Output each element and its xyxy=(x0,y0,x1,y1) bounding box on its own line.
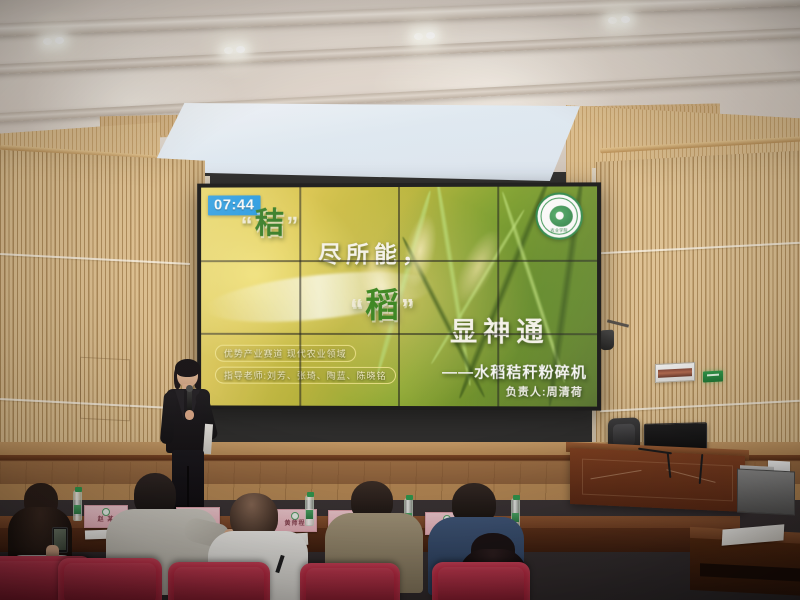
conference-hall-photo: 07:44 “秸” 尽所能， “稻” 显神通 优势产业赛道 现代农业领域 指导老… xyxy=(0,0,800,600)
bottle-cap xyxy=(307,492,314,497)
presenter-lapel xyxy=(175,390,184,420)
wall-speaker-icon xyxy=(600,330,614,351)
ceiling-light-panel xyxy=(150,103,580,181)
slide-track-tag: 优势产业赛道 现代农业领域 xyxy=(215,345,356,362)
video-wall-bezel xyxy=(201,260,597,262)
wall-access-door[interactable] xyxy=(80,357,130,422)
ceiling-spotlight-icon xyxy=(426,32,435,39)
video-wall-bezel xyxy=(201,333,597,335)
ceiling-spotlight-icon xyxy=(55,37,64,44)
exit-sign-icon xyxy=(703,370,723,382)
video-wall-screen: 07:44 “秸” 尽所能， “稻” 显神通 优势产业赛道 现代农业领域 指导老… xyxy=(201,186,597,406)
presenter-notes xyxy=(203,424,213,454)
quote-close-icon: ” xyxy=(286,212,300,239)
ceiling-spotlight-icon xyxy=(224,47,233,54)
ceiling-spotlight-icon xyxy=(414,33,423,40)
auditorium-seat[interactable] xyxy=(168,562,270,600)
quote-open-icon: “ xyxy=(241,212,255,239)
electrical-panel-breakers xyxy=(658,368,692,378)
slide-title-keyword-2: 稻 xyxy=(365,287,401,325)
logo-emblem xyxy=(550,206,573,227)
video-wall-bezel xyxy=(299,187,301,405)
slide-subtitle: ——水稻秸秆粉碎机 xyxy=(442,361,587,382)
ceiling-spotlight-icon xyxy=(43,38,52,45)
slide-title-line1: “秸” xyxy=(241,209,301,239)
video-wall-bezel xyxy=(497,187,499,407)
school-logo-icon: 农业学院 xyxy=(535,192,582,239)
ceiling-spotlight-icon xyxy=(236,46,245,53)
slide-advisors-tag: 指导老师:刘芳、张琦、陶蓝、陈晓铭 xyxy=(215,367,396,384)
ceiling-spotlight-icon xyxy=(621,16,630,23)
auditorium-seat[interactable] xyxy=(432,562,530,600)
video-wall-display[interactable]: 07:44 “秸” 尽所能， “稻” 显神通 优势产业赛道 现代农业领域 指导老… xyxy=(197,182,601,410)
logo-label: 农业学院 xyxy=(538,228,581,234)
podium[interactable] xyxy=(570,448,745,512)
ceiling-spotlight-icon xyxy=(608,17,617,24)
quote-close-icon: ” xyxy=(401,293,416,323)
auditorium-seat[interactable] xyxy=(58,558,162,600)
slide-title-keyword-1: 秸 xyxy=(255,207,287,240)
slide-owner: 负责人:周清荷 xyxy=(506,383,583,399)
auditorium-seat[interactable] xyxy=(300,563,400,600)
video-wall-bezel xyxy=(398,187,400,406)
presenter-hair xyxy=(175,359,200,377)
slide-title-line2: “稻” xyxy=(350,289,416,323)
slide-title-line1-rest: 尽所能， xyxy=(318,243,430,266)
quote-open-icon: “ xyxy=(350,293,365,323)
presenter-hand xyxy=(185,410,194,420)
equipment-cart xyxy=(737,468,795,515)
electrical-panel-box[interactable] xyxy=(655,362,695,383)
